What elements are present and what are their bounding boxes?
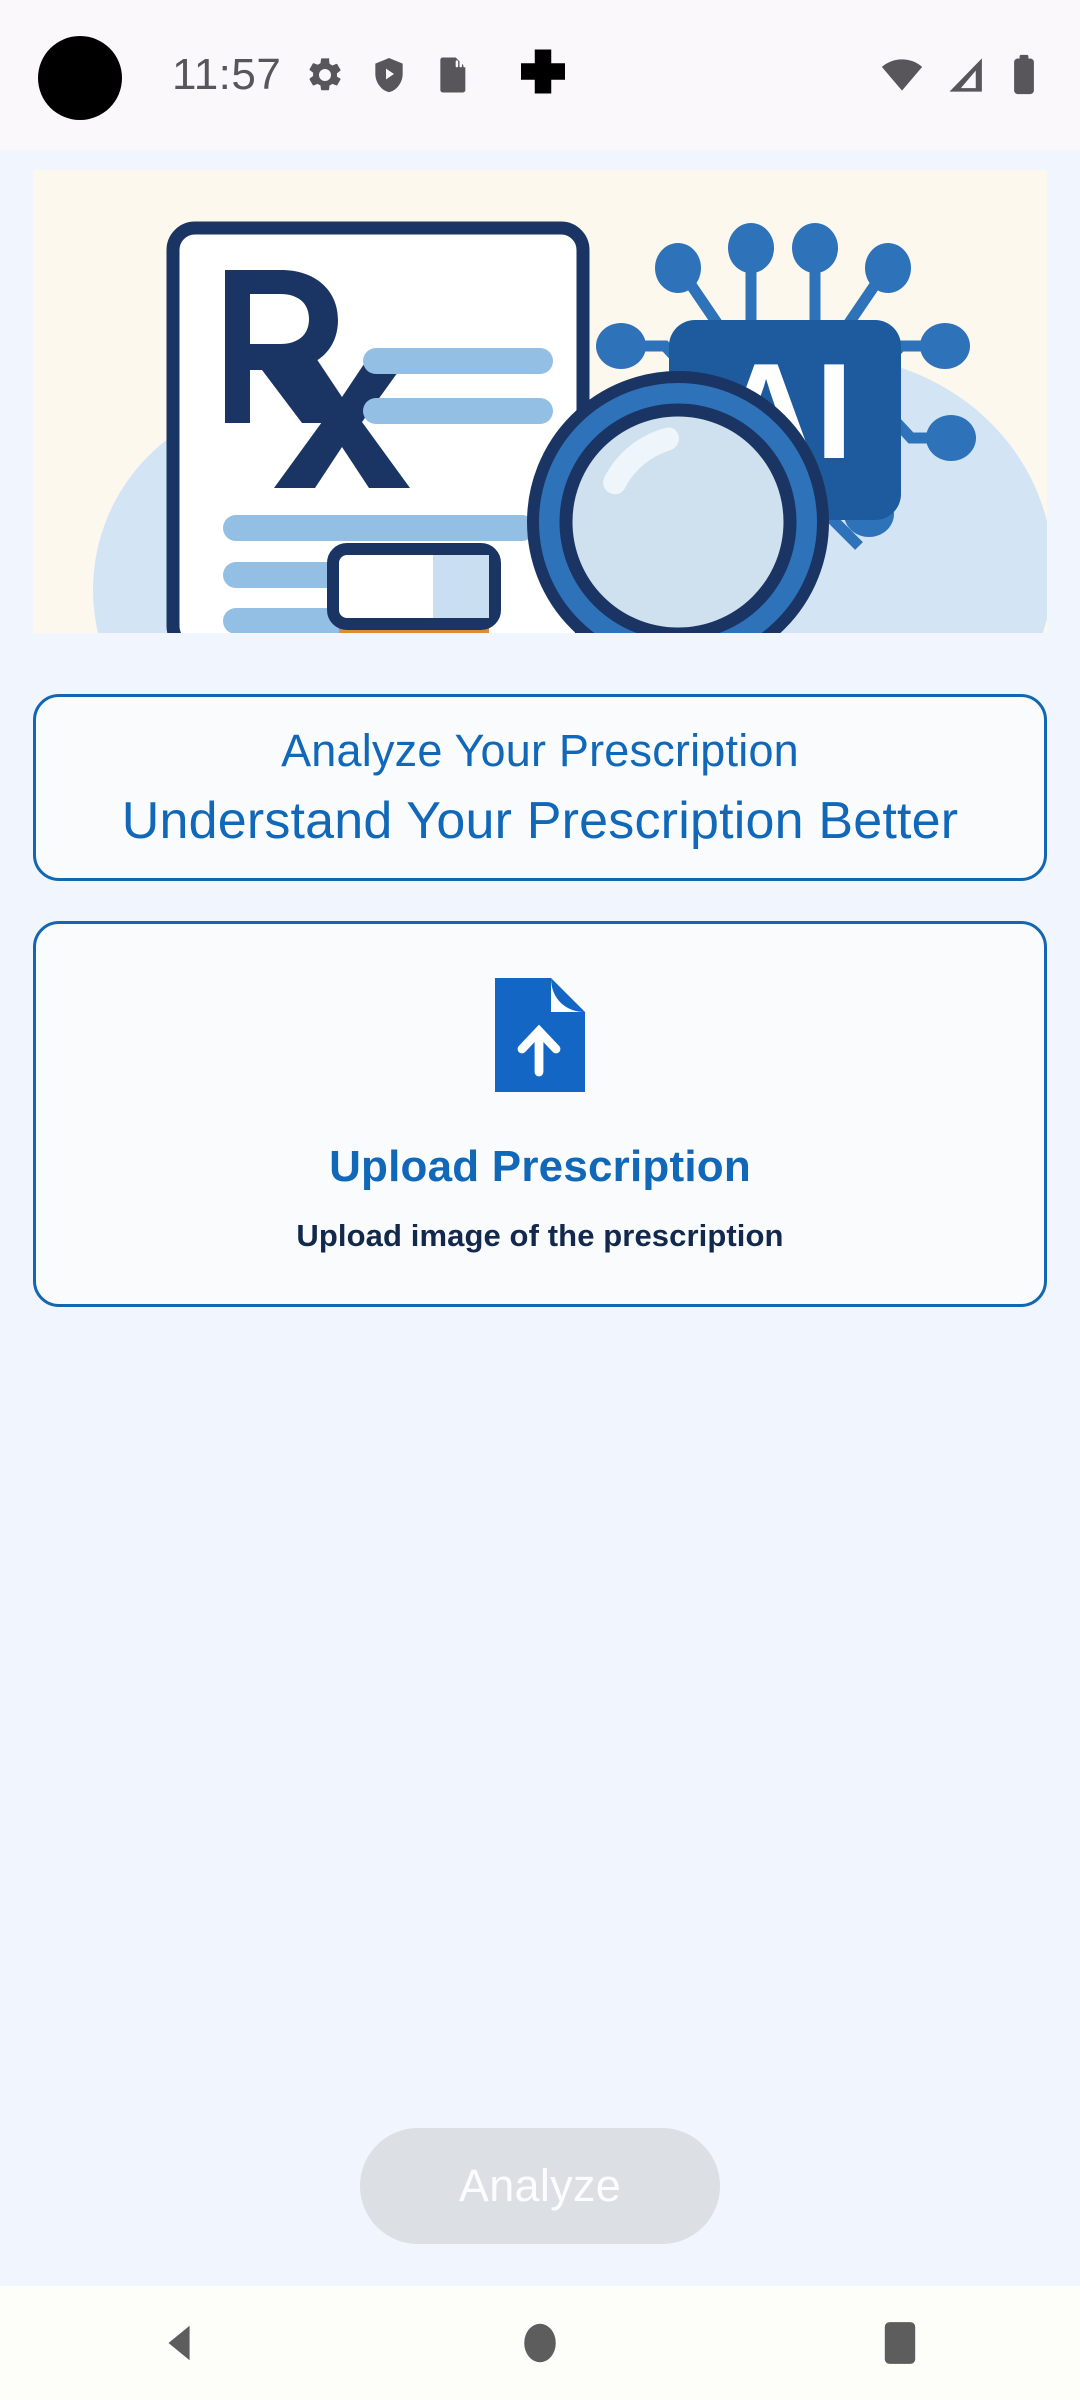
title-card: Analyze Your Prescription Understand You… bbox=[33, 694, 1047, 881]
wifi-icon bbox=[880, 53, 924, 97]
sd-card-icon bbox=[433, 55, 471, 95]
home-button[interactable] bbox=[450, 2286, 630, 2400]
magnifying-glass bbox=[538, 382, 818, 633]
recents-button[interactable] bbox=[810, 2286, 990, 2400]
battery-icon bbox=[1010, 53, 1038, 97]
shield-play-icon bbox=[369, 55, 409, 95]
paper-line bbox=[363, 398, 553, 424]
upload-card-title: Upload Prescription bbox=[329, 1142, 751, 1192]
app-screen: 11:57 bbox=[0, 0, 1080, 2400]
paper-line bbox=[363, 348, 553, 374]
status-bar-right-group bbox=[880, 0, 1038, 150]
status-bar: 11:57 bbox=[0, 0, 1080, 150]
prescription-ai-artwork: AI bbox=[33, 170, 1047, 633]
android-navigation-bar bbox=[0, 2286, 1080, 2400]
back-button[interactable] bbox=[90, 2286, 270, 2400]
upload-card-hint: Upload image of the prescription bbox=[296, 1218, 783, 1254]
cellular-signal-icon bbox=[946, 54, 988, 96]
analyze-button[interactable]: Analyze bbox=[360, 2128, 720, 2244]
page-title: Analyze Your Prescription bbox=[281, 725, 799, 777]
paper-line bbox=[223, 515, 535, 541]
status-bar-clock: 11:57 bbox=[172, 50, 281, 100]
notification-blob-icon bbox=[510, 44, 576, 110]
status-bar-left-group: 11:57 bbox=[172, 0, 471, 150]
upload-prescription-card[interactable]: Upload Prescription Upload image of the … bbox=[33, 921, 1047, 1307]
hero-illustration: AI bbox=[33, 170, 1047, 633]
pill-bottle bbox=[333, 549, 495, 633]
file-upload-icon bbox=[491, 974, 589, 1096]
gear-icon bbox=[305, 55, 345, 95]
triangle-left-icon bbox=[157, 2320, 203, 2366]
page-subtitle: Understand Your Prescription Better bbox=[122, 791, 959, 851]
square-icon bbox=[881, 2320, 919, 2366]
camera-cutout-icon bbox=[38, 36, 122, 120]
circle-icon bbox=[519, 2320, 561, 2366]
